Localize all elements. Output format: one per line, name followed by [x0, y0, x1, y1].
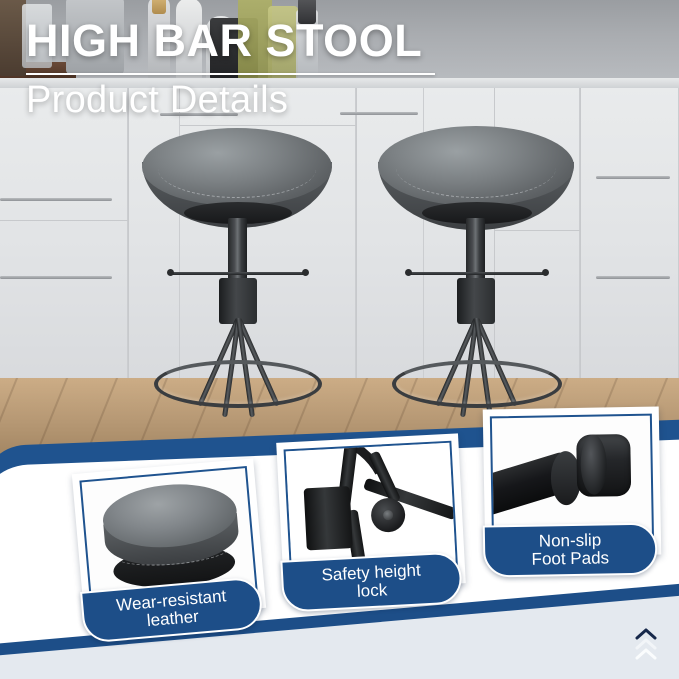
feature-label-text: Safety height lock	[321, 561, 422, 603]
feature-card-safety-height-lock[interactable]: Safety height lock	[276, 433, 466, 592]
feature-card-non-slip-foot-pads[interactable]: Non-slip Foot Pads	[483, 406, 662, 557]
feature-label-text: Non-slip Foot Pads	[531, 531, 609, 569]
feature-cards: Wear-resistant leather Safety height	[0, 0, 679, 679]
stool-hub-body	[304, 486, 353, 550]
feature-card-label-2: Safety height lock	[280, 551, 462, 612]
chevron-up-icon	[635, 647, 657, 660]
chevron-up-group	[635, 627, 657, 657]
feature-label-text: Wear-resistant leather	[116, 587, 229, 633]
feature-card-wear-resistant-leather[interactable]: Wear-resistant leather	[72, 458, 266, 623]
product-detail-banner: HIGH BAR STOOL Product Details Wear-resi…	[0, 0, 679, 679]
feature-card-label-3: Non-slip Foot Pads	[483, 523, 658, 578]
